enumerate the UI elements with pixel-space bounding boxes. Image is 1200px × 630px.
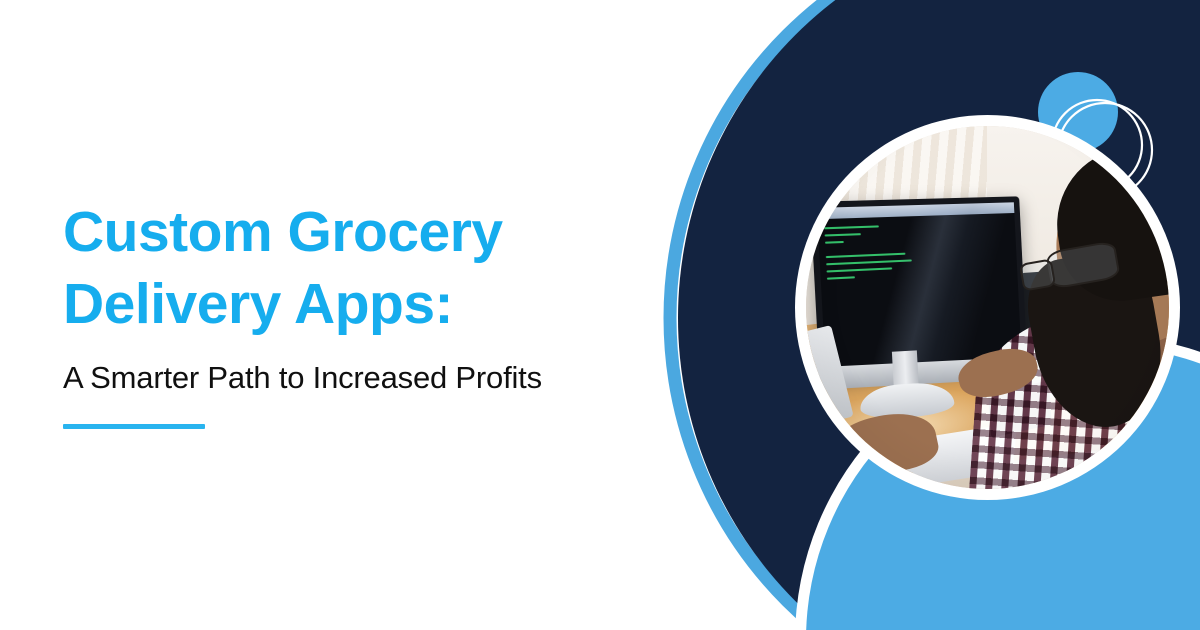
- headline-line-2: Delivery Apps:: [63, 268, 663, 340]
- banner-canvas: Custom Grocery Delivery Apps: A Smarter …: [0, 0, 1200, 630]
- accent-underline: [63, 424, 205, 429]
- page-title: Custom Grocery Delivery Apps:: [63, 196, 663, 340]
- hero-photo-circle: [795, 115, 1180, 500]
- headline-line-1: Custom Grocery: [63, 196, 663, 268]
- text-content-block: Custom Grocery Delivery Apps: A Smarter …: [63, 196, 663, 429]
- page-subtitle: A Smarter Path to Increased Profits: [63, 358, 663, 398]
- photo-vignette: [806, 126, 1169, 489]
- hero-photo: [806, 126, 1169, 489]
